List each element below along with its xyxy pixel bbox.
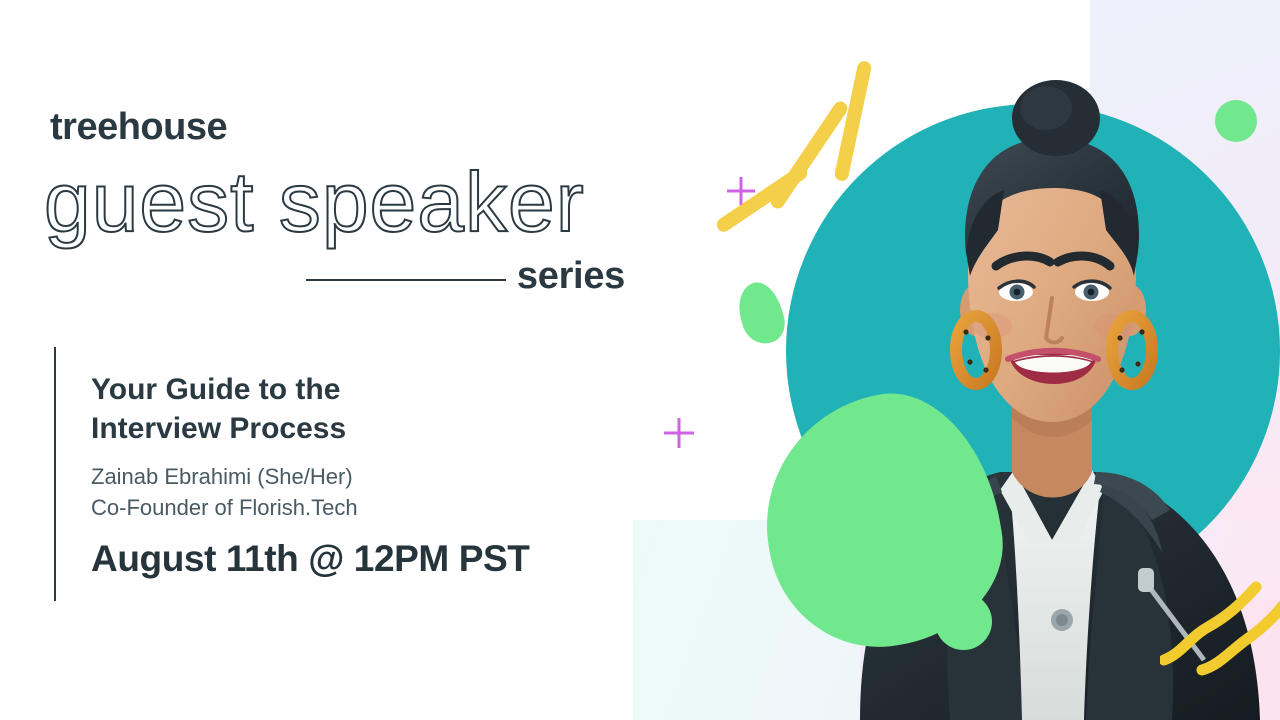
series-row: series: [300, 255, 625, 301]
magenta-plus-icon: [664, 418, 694, 448]
speaker-credit: Zainab Ebrahimi (She/Her) Co-Founder of …: [91, 461, 561, 523]
yellow-wavy-lines-icon: [1160, 575, 1280, 695]
speaker-name: Zainab Ebrahimi (She/Her): [91, 461, 561, 492]
talk-title-line-2: Interview Process: [91, 409, 561, 448]
speaker-role: Co-Founder of Florish.Tech: [91, 492, 561, 523]
event-datetime: August 11th @ 12PM PST: [91, 538, 651, 580]
green-dot-blob-upper: [1215, 100, 1257, 142]
green-bean-blob: [732, 277, 789, 348]
headline-outline-text: guest speaker: [44, 160, 585, 244]
talk-title-line-1: Your Guide to the: [91, 370, 561, 409]
brand-wordmark: treehouse: [50, 108, 227, 146]
vertical-accent-rule: [54, 347, 56, 601]
series-label: series: [517, 255, 625, 299]
text-column: treehouse guest speaker series Your Guid…: [0, 0, 660, 720]
promo-slide: treehouse guest speaker series Your Guid…: [0, 0, 1280, 720]
green-dot-blob-lower: [935, 593, 992, 650]
series-divider-rule: [306, 279, 506, 281]
magenta-plus-icon: [727, 177, 755, 205]
talk-title: Your Guide to the Interview Process: [91, 370, 561, 448]
